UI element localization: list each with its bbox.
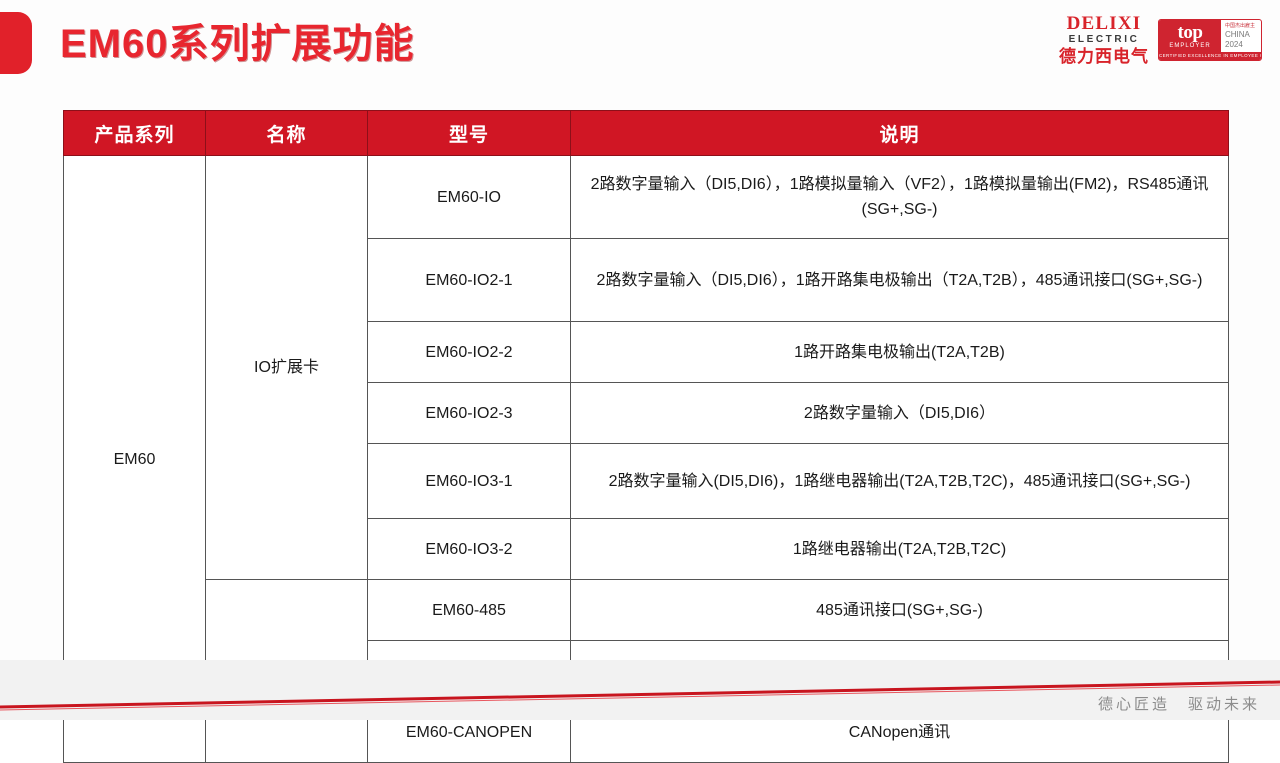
badge-right-panel: 中国杰出雇主 CHINA 2024: [1221, 20, 1261, 52]
cell-description: 1路开路集电极输出(T2A,T2B): [571, 322, 1229, 383]
cell-model: EM60-IO2-3: [368, 383, 571, 444]
badge-top-word: top: [1162, 24, 1218, 42]
table-row: 通讯扩展卡 EM60-485 485通讯接口(SG+,SG-): [64, 580, 1229, 641]
page-title: EM60系列扩展功能: [60, 18, 415, 70]
header-name: 名称: [206, 111, 368, 156]
cell-group-name-io: IO扩展卡: [206, 156, 368, 580]
cell-description: 2路数字量输入(DI5,DI6)，1路继电器输出(T2A,T2B,T2C)，48…: [571, 444, 1229, 519]
cell-description: 2路数字量输入（DI5,DI6）: [571, 383, 1229, 444]
cell-model: EM60-IO: [368, 156, 571, 239]
header-product-series: 产品系列: [64, 111, 206, 156]
badge-country: CHINA: [1225, 30, 1259, 40]
top-employer-badge: top EMPLOYER 中国杰出雇主 CHINA 2024 CERTIFIED…: [1158, 19, 1262, 61]
table-header-row: 产品系列 名称 型号 说明: [64, 111, 1229, 156]
header-model: 型号: [368, 111, 571, 156]
cell-model: EM60-IO2-1: [368, 239, 571, 322]
footer-band: 德心匠造 驱动未来: [0, 660, 1280, 720]
delixi-wordmark: DELIXI: [1067, 14, 1142, 33]
cell-description: 2路数字量输入（DI5,DI6），1路模拟量输入（VF2），1路模拟量输出(FM…: [571, 156, 1229, 239]
badge-year: 2024: [1225, 40, 1259, 50]
badge-cn-line: 中国杰出雇主: [1225, 23, 1259, 30]
badge-left-panel: top EMPLOYER: [1159, 20, 1221, 52]
delixi-logo: DELIXI ELECTRIC 德力西电气: [1059, 14, 1149, 65]
footer-slogan: 德心匠造 驱动未来: [1098, 693, 1260, 714]
cell-model: EM60-IO3-2: [368, 519, 571, 580]
badge-footer-text: CERTIFIED EXCELLENCE IN EMPLOYEE CONDITI…: [1159, 52, 1261, 60]
cell-model: EM60-IO3-1: [368, 444, 571, 519]
cell-description: 2路数字量输入（DI5,DI6），1路开路集电极输出（T2A,T2B），485通…: [571, 239, 1229, 322]
badge-employer-label: EMPLOYER: [1162, 43, 1218, 49]
cell-description: 485通讯接口(SG+,SG-): [571, 580, 1229, 641]
cell-description: 1路继电器输出(T2A,T2B,T2C): [571, 519, 1229, 580]
brand-logo: DELIXI ELECTRIC 德力西电气 top EMPLOYER 中国杰出雇…: [1059, 14, 1262, 65]
delixi-chinese-name: 德力西电气: [1059, 48, 1149, 65]
header-description: 说明: [571, 111, 1229, 156]
title-accent-bar: [0, 12, 32, 74]
footer-accent-line-icon: [0, 660, 1280, 720]
badge-body: top EMPLOYER 中国杰出雇主 CHINA 2024: [1159, 20, 1261, 52]
cell-model: EM60-IO2-2: [368, 322, 571, 383]
cell-model: EM60-485: [368, 580, 571, 641]
table-row: EM60 IO扩展卡 EM60-IO 2路数字量输入（DI5,DI6），1路模拟…: [64, 156, 1229, 239]
delixi-subtitle: ELECTRIC: [1069, 35, 1140, 45]
